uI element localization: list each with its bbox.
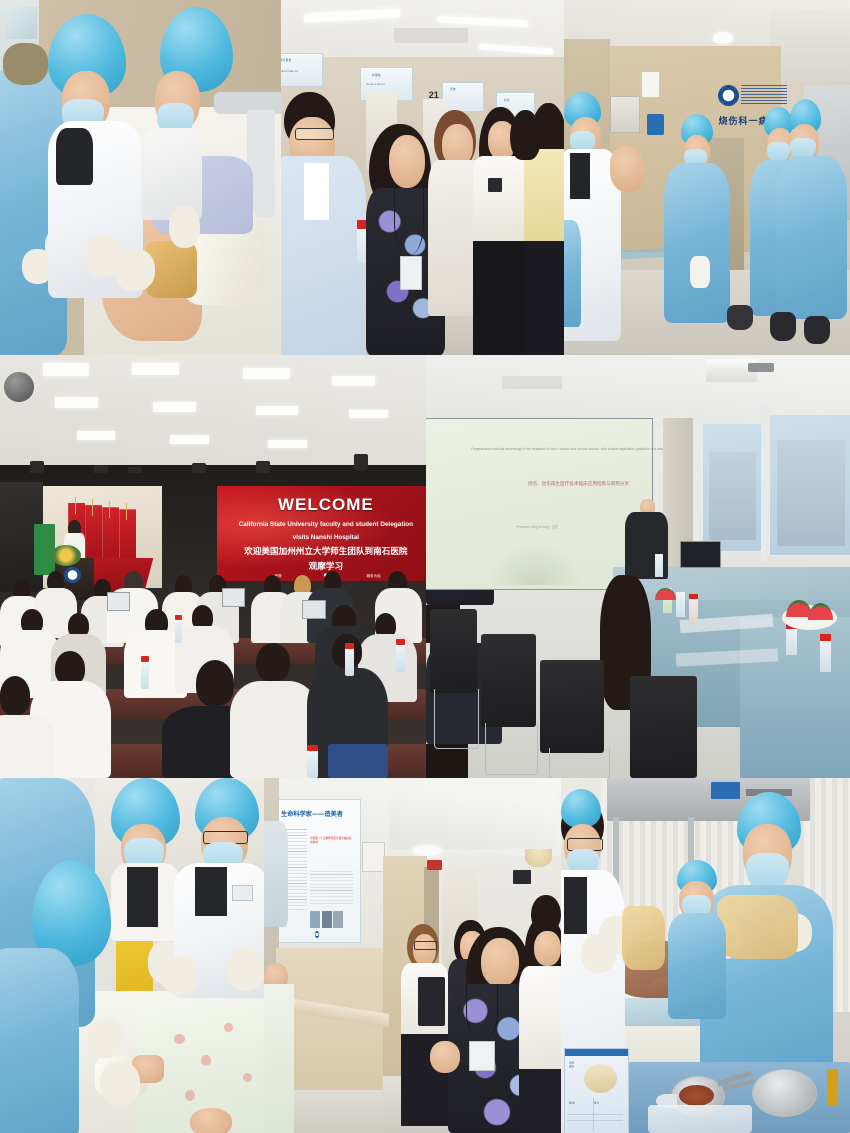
shoulder-bag (418, 977, 445, 1027)
ceiling-lamp-icon (525, 849, 552, 867)
slide-author: Professor Ding Xinlong / 主任 (426, 524, 652, 529)
lanyard-badge-2 (469, 1041, 495, 1071)
wheelchair-access-icon (647, 114, 664, 135)
collage-row-bottom: 生命科学家——造美者 中国第一个皮肤再生医疗技术临床应用基地 (0, 778, 850, 1133)
banner-chinese-1: 欢迎美国加州州立大学师生团队到南石医院 (217, 545, 426, 557)
laptop-icon-2 (222, 588, 245, 607)
hospital-emblem-icon (718, 85, 738, 106)
panel-lecture-meeting-room: Regenerative medical technology in the t… (426, 355, 850, 778)
projection-screen: Regenerative medical technology in the t… (426, 419, 652, 588)
poster-title: 生命科学家——造美者 (281, 809, 343, 818)
laptop-icon-3 (302, 600, 325, 619)
panel-welcome-ceremony-auditorium: WELCOME California State University facu… (0, 355, 426, 778)
eyeglasses-icon (295, 128, 334, 141)
panel-corridor-poster-walkthrough: 生命科学家——造美者 中国第一个皮肤再生医疗技术临床应用基地 (264, 778, 561, 1133)
skin-graft-sheet-left (622, 906, 665, 970)
poster-highlight: 中国第一个皮肤再生医疗技术临床应用基地 (310, 837, 353, 845)
corridor-sign-3: 咨询 (442, 82, 484, 112)
photo-collage: 挂号收费 REGISTRATION 护理站 NURSE STATION 咨询 药… (0, 0, 850, 1133)
banner-line-1: California State University faculty and … (217, 521, 426, 528)
laptop-icon (107, 592, 130, 611)
panel-hospital-corridor-tour: 挂号收费 REGISTRATION 护理站 NURSE STATION 咨询 药… (281, 0, 564, 355)
stainless-bowl-2 (752, 1069, 818, 1117)
smartphone-icon (488, 178, 502, 192)
exit-sign-icon (427, 860, 442, 871)
podium-emblem-icon (64, 567, 81, 584)
information-poster: 生命科学家——造美者 中国第一个皮肤再生医疗技术临床应用基地 (276, 799, 361, 943)
skin-graft-sheet-right (717, 895, 798, 959)
banner-headline: WELCOME (217, 495, 426, 515)
banner-line-2: visits Nanshi Hospital (217, 534, 426, 541)
welcome-banner: WELCOME California State University facu… (217, 486, 426, 581)
panel-skin-graft-demonstration: 活性皮肤 规 格 批号 (561, 778, 850, 1133)
corridor-sign-1: 挂号收费 REGISTRATION (281, 53, 323, 87)
disco-ball-icon (4, 372, 34, 402)
laptop-on-table (680, 541, 720, 568)
window-left (702, 423, 763, 552)
projection-screen-frame: Regenerative medical technology in the t… (426, 418, 653, 589)
product-box: 活性皮肤 规 格 批号 (564, 1048, 630, 1133)
isolation-gown-center (664, 163, 730, 323)
collage-row-top: 挂号收费 REGISTRATION 护理站 NURSE STATION 咨询 药… (0, 0, 850, 355)
collage-row-middle: WELCOME California State University facu… (0, 355, 850, 778)
window-right (769, 414, 850, 556)
panel-bedside-wound-dressing (0, 0, 281, 355)
eyeglasses-icon-3 (414, 941, 437, 950)
hospital-name-plate (741, 85, 787, 104)
surgical-cap-d (561, 789, 601, 828)
lanyard-badge (400, 256, 422, 290)
poster-logo-icon (315, 931, 319, 938)
name-badge (232, 885, 252, 901)
panel-burn-ward-entrance-briefing: 烧伤科一病区 (564, 0, 850, 355)
panel-patient-transfer-bedside (0, 778, 264, 1133)
